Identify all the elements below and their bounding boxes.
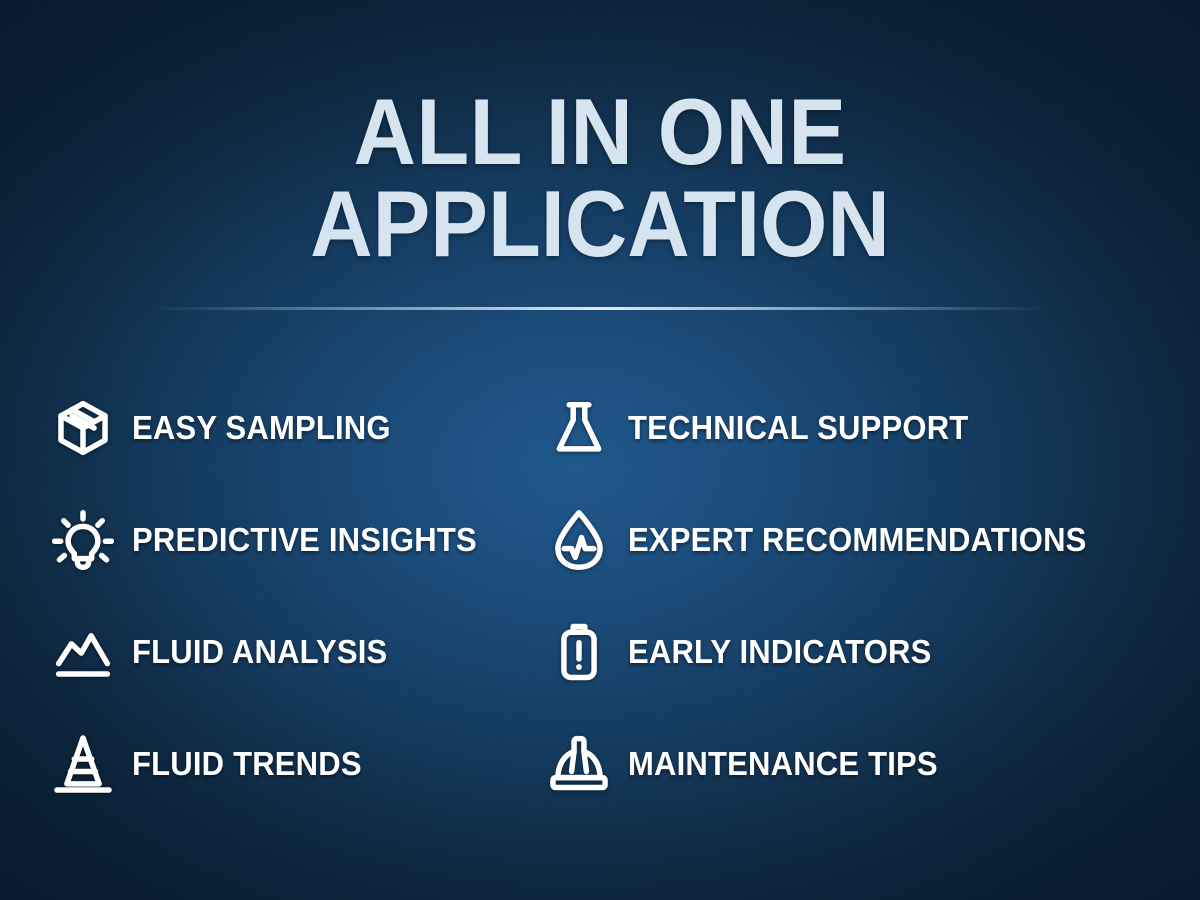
feature-grid: EASY SAMPLING TECHNICAL SUPPORT [0,372,1200,820]
feature-item-easy-sampling[interactable]: EASY SAMPLING [0,372,540,484]
feature-label: EASY SAMPLING [132,411,391,445]
feature-label: FLUID TRENDS [132,747,362,781]
feature-item-fluid-trends[interactable]: FLUID TRENDS [0,708,540,820]
slide-canvas: ALL IN ONE APPLICATION EASY SAMPLING [0,0,1200,900]
feature-label: PREDICTIVE INSIGHTS [132,523,477,557]
lightbulb-icon [52,509,114,571]
feature-item-predictive-insights[interactable]: PREDICTIVE INSIGHTS [0,484,540,596]
feature-label: MAINTENANCE TIPS [628,747,938,781]
feature-label: EARLY INDICATORS [628,635,932,669]
title-line-2: APPLICATION [48,178,1152,270]
feature-label: FLUID ANALYSIS [132,635,387,669]
package-box-icon [52,397,114,459]
hard-hat-icon [548,733,610,795]
erlenmeyer-flask-icon [548,397,610,459]
title-line-1: ALL IN ONE [48,86,1152,178]
page-title: ALL IN ONE APPLICATION [0,86,1200,270]
battery-alert-icon [548,621,610,683]
feature-item-technical-support[interactable]: TECHNICAL SUPPORT [540,372,1200,484]
feature-item-expert-recommendations[interactable]: EXPERT RECOMMENDATIONS [540,484,1200,596]
area-chart-icon [52,621,114,683]
feature-item-maintenance-tips[interactable]: MAINTENANCE TIPS [540,708,1200,820]
title-divider [148,307,1052,310]
feature-item-fluid-analysis[interactable]: FLUID ANALYSIS [0,596,540,708]
feature-label: TECHNICAL SUPPORT [628,411,968,445]
feature-label: EXPERT RECOMMENDATIONS [628,523,1087,557]
feature-item-early-indicators[interactable]: EARLY INDICATORS [540,596,1200,708]
traffic-cone-icon [52,733,114,795]
droplet-pulse-icon [548,509,610,571]
